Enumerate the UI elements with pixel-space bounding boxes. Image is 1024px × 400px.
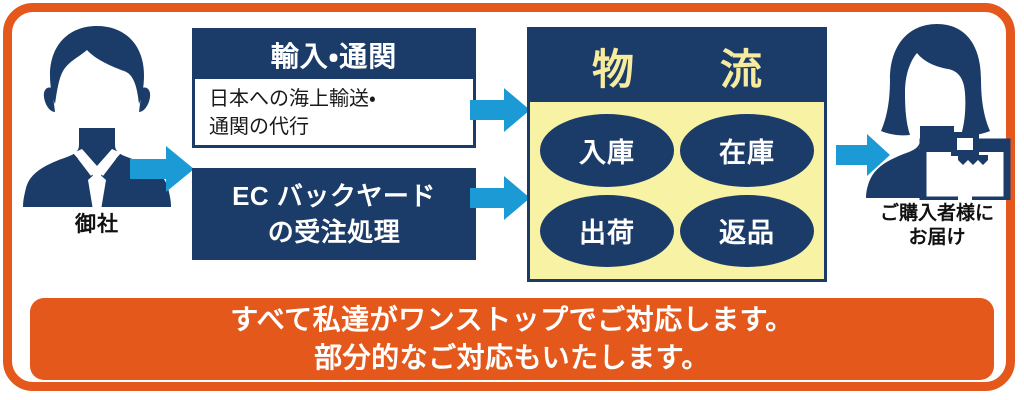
infographic-canvas: 御社 輸入・通関 日本への海上輸送・ 通関の代行 EC バックヤード の受注処理… xyxy=(0,0,1024,400)
logistics-items-grid: 入庫 在庫 出荷 返品 xyxy=(530,102,824,279)
logistics-panel: 物 流 入庫 在庫 出荷 返品 xyxy=(527,27,827,282)
ec-backyard-title-line2: の受注処理 xyxy=(268,214,401,250)
service-card-ec-backyard[interactable]: EC バックヤード の受注処理 xyxy=(192,168,476,260)
logistics-item-returns[interactable]: 返品 xyxy=(680,195,814,268)
arrow-import-to-logistics xyxy=(470,88,530,137)
logistics-item-stock[interactable]: 在庫 xyxy=(680,114,814,187)
arrow-ec-to-logistics xyxy=(470,176,530,225)
one-stop-banner: すべて私達がワンストップでご対応します。 部分的なご対応もいたします。 xyxy=(30,298,994,380)
right-actor-caption-line2: お届け xyxy=(854,226,1020,250)
import-customs-body-line2: 通関の代行 xyxy=(209,113,463,141)
logistics-item-inbound[interactable]: 入庫 xyxy=(540,114,674,187)
banner-line2: 部分的なご対応もいたします。 xyxy=(314,339,710,377)
import-customs-body-line1: 日本への海上輸送・ xyxy=(209,85,463,113)
import-customs-body: 日本への海上輸送・ 通関の代行 xyxy=(195,79,473,141)
woman-with-parcel-icon xyxy=(862,22,1012,200)
ec-backyard-title-line1: EC バックヤード xyxy=(232,178,436,214)
arrow-company-to-services xyxy=(130,146,194,197)
banner-line1: すべて私達がワンストップでご対応します。 xyxy=(230,301,794,339)
service-card-import-customs[interactable]: 輸入・通関 日本への海上輸送・ 通関の代行 xyxy=(192,28,476,148)
left-actor-caption: 御社 xyxy=(22,208,172,238)
right-actor-caption: ご購入者様に お届け xyxy=(854,202,1020,250)
logistics-header: 物 流 xyxy=(530,30,824,102)
right-actor-group: ご購入者様に お届け xyxy=(862,22,1012,262)
import-customs-header: 輸入・通関 xyxy=(195,31,473,79)
right-actor-caption-line1: ご購入者様に xyxy=(854,202,1020,226)
logistics-item-shipping[interactable]: 出荷 xyxy=(540,195,674,268)
left-actor-group: 御社 xyxy=(22,22,172,252)
